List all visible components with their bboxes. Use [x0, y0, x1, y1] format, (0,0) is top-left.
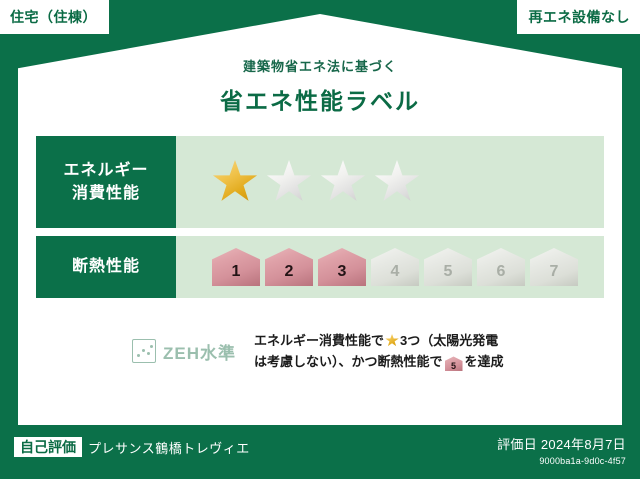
footer-right: 評価日 2024年8月7日 9000ba1a-9d0c-4f57: [497, 434, 626, 466]
zeh-standard-note: ZEH水準 エネルギー消費性能で3つ（太陽光発電 は考慮しない）、かつ断熱性能で…: [36, 330, 604, 373]
footer-left: 自己評価 プレサンス鶴橋トレヴィエ: [14, 437, 250, 457]
insulation-performance-row: 断熱性能 1 2 3 4 5 6 7: [36, 236, 604, 298]
grade-badge-4: 4: [371, 248, 419, 286]
energy-label-line2: 消費性能: [72, 185, 140, 202]
footer-bar: 自己評価 プレサンス鶴橋トレヴィエ 評価日 2024年8月7日 9000ba1a…: [0, 425, 640, 479]
grade-badge-2: 2: [265, 248, 313, 286]
energy-performance-label: エネルギー 消費性能: [36, 136, 176, 228]
inline-grade-badge: 5: [445, 356, 463, 371]
evaluation-date: 評価日 2024年8月7日: [497, 434, 626, 453]
grade-badge-3: 3: [318, 248, 366, 286]
zeh-label: ZEH水準: [163, 339, 236, 364]
title-block: 建築物省エネ法に基づく 省エネ性能ラベル: [0, 56, 640, 116]
building-name: プレサンス鶴橋トレヴィエ: [88, 438, 250, 457]
grade-badge-6: 6: [477, 248, 525, 286]
zeh-mark: ZEH水準: [132, 339, 236, 364]
star-empty-2: [266, 160, 312, 204]
page-title: 省エネ性能ラベル: [0, 82, 640, 116]
zeh-icon: [132, 339, 156, 363]
energy-label-line1: エネルギー: [63, 162, 148, 179]
zeh-desc-part3: を達成: [465, 354, 504, 369]
renewable-energy-tag: 再エネ設備なし: [517, 0, 640, 34]
star-filled-1: [212, 160, 258, 204]
building-type-tag: 住宅（住棟）: [0, 0, 109, 34]
star-empty-3: [320, 160, 366, 204]
zeh-desc-part2: は考慮しない）、かつ断熱性能で: [254, 354, 443, 369]
zeh-description: エネルギー消費性能で3つ（太陽光発電 は考慮しない）、かつ断熱性能で5を達成: [254, 330, 504, 373]
energy-performance-row: エネルギー 消費性能: [36, 136, 604, 228]
insulation-grade-scale: 1 2 3 4 5 6 7: [176, 236, 604, 298]
energy-label: 住宅（住棟） 再エネ設備なし 建築物省エネ法に基づく 省エネ性能ラベル エネルギ…: [0, 0, 640, 479]
grade-badge-7: 7: [530, 248, 578, 286]
zeh-desc-star-count: 3つ（太陽光発電: [400, 333, 498, 348]
grade-badge-5: 5: [424, 248, 472, 286]
self-evaluation-badge: 自己評価: [14, 437, 82, 457]
evaluation-id: 9000ba1a-9d0c-4f57: [497, 456, 626, 466]
title-subtitle: 建築物省エネ法に基づく: [0, 56, 640, 75]
energy-star-rating: [176, 136, 604, 228]
grade-badge-1: 1: [212, 248, 260, 286]
inline-star-icon: [385, 334, 399, 347]
zeh-desc-part1: エネルギー消費性能で: [254, 333, 384, 348]
insulation-performance-label: 断熱性能: [36, 236, 176, 298]
star-empty-4: [374, 160, 420, 204]
